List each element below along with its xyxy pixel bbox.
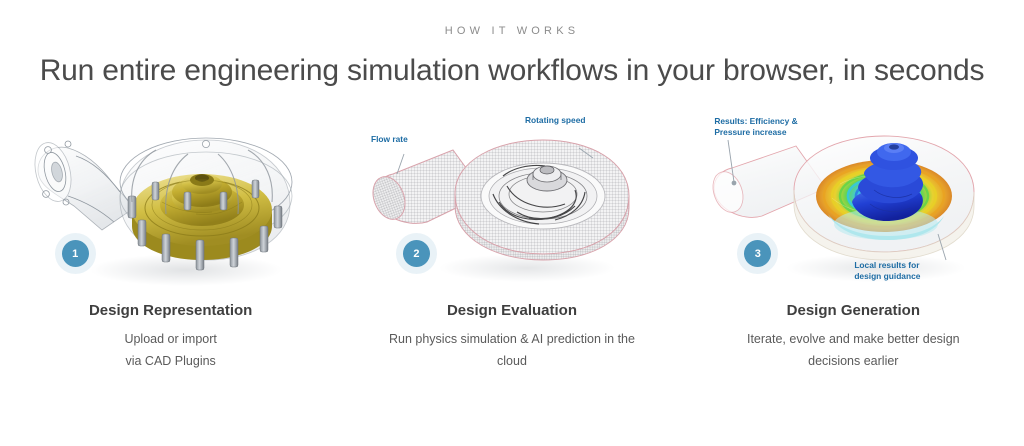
step-title-2: Design Evaluation xyxy=(447,302,577,319)
step-badge-2: 2 xyxy=(403,240,430,267)
page-title: Run entire engineering simulation workfl… xyxy=(0,54,1024,88)
annotation-local-results: Local results for design guidance xyxy=(854,260,920,283)
step-body-1: Upload or import via CAD Plugins xyxy=(124,329,216,373)
steps-row: 1 Design Representation Upload or import… xyxy=(0,110,1024,373)
section-eyebrow: HOW IT WORKS xyxy=(0,25,1024,37)
step-card-1: 1 Design Representation Upload or import… xyxy=(0,110,341,373)
step-title-1: Design Representation xyxy=(89,302,252,319)
step-badge-1: 1 xyxy=(62,240,89,267)
step-title-3: Design Generation xyxy=(787,302,920,319)
annotation-results-efficiency: Results: Efficiency & Pressure increase xyxy=(714,116,797,139)
annotation-flow-rate: Flow rate xyxy=(371,134,408,145)
step-body-3: Iterate, evolve and make better design d… xyxy=(723,329,983,373)
step-card-2: Flow rate Rotating speed 2 Design Evalua… xyxy=(341,110,682,373)
annotation-rotating-speed: Rotating speed xyxy=(525,115,586,126)
cfd-results-model: Results: Efficiency & Pressure increase … xyxy=(698,110,1008,290)
mesh-simulation-model: Flow rate Rotating speed 2 xyxy=(357,110,667,290)
step-body-2: Run physics simulation & AI prediction i… xyxy=(382,329,642,373)
cad-pump-model: 1 xyxy=(16,110,326,290)
step-card-3: Results: Efficiency & Pressure increase … xyxy=(683,110,1024,373)
how-it-works-section: HOW IT WORKS Run entire engineering simu… xyxy=(0,25,1024,446)
